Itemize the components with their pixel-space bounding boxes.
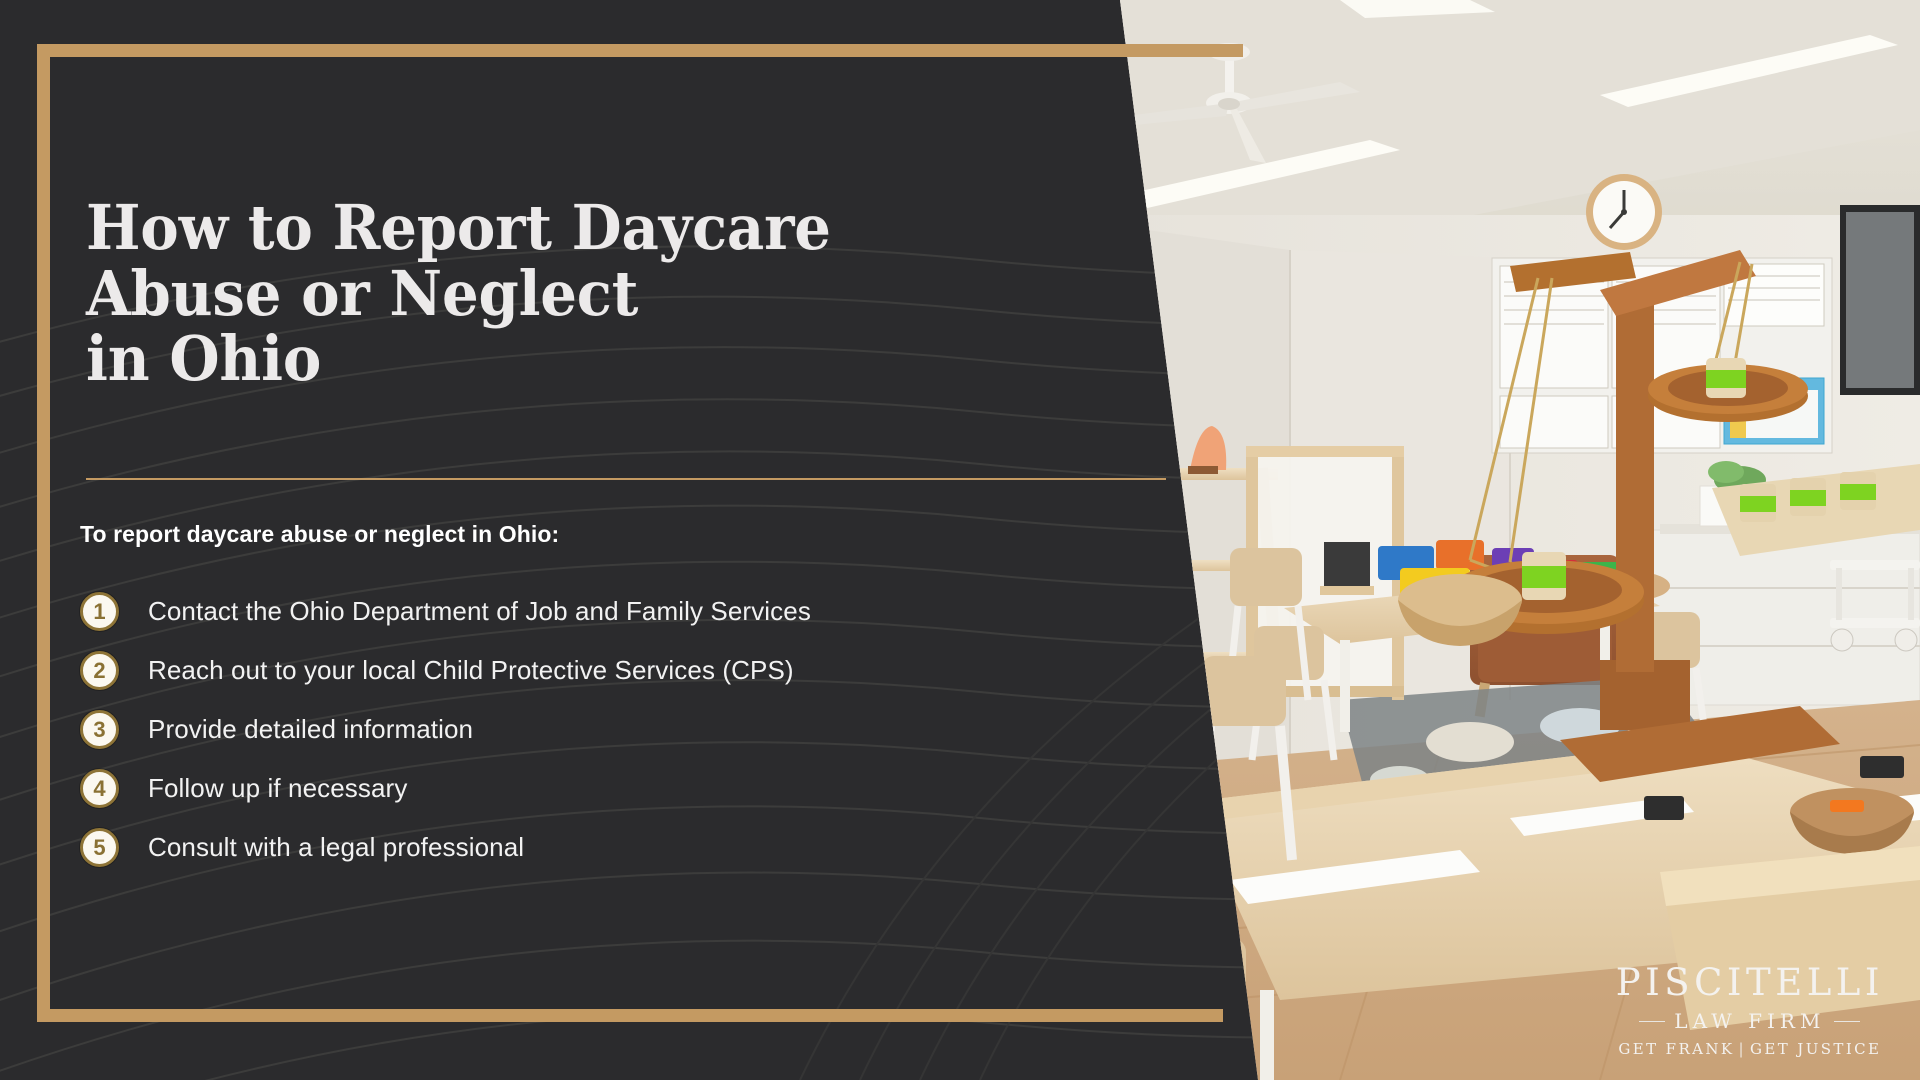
gold-divider-rule [86,478,1166,480]
poster-canvas: How to Report Daycare Abuse or Neglect i… [0,0,1920,1080]
logo-tagline: GET FRANK|GET JUSTICE [1616,1040,1884,1058]
step-number-badge: 5 [80,828,119,867]
lead-text: To report daycare abuse or neglect in Oh… [80,521,559,548]
logo-firm-name: PISCITELLI [1616,963,1884,1004]
frame-border-top [37,44,1243,57]
frame-border-left [37,44,50,1022]
list-item: 2 Reach out to your local Child Protecti… [80,641,980,700]
logo-tagline-left: GET FRANK [1618,1040,1734,1058]
logo-dash-left [1639,1021,1665,1022]
list-item: 1 Contact the Ohio Department of Job and… [80,582,980,641]
step-number-badge: 1 [80,592,119,631]
list-item: 3 Provide detailed information [80,700,980,759]
frame-border-bottom [37,1009,1223,1022]
logo-tagline-right: GET JUSTICE [1750,1040,1881,1058]
law-firm-logo: PISCITELLI LAW FIRM GET FRANK|GET JUSTIC… [1616,963,1884,1058]
logo-dash-right [1834,1021,1860,1022]
logo-tagline-divider: | [1739,1040,1746,1058]
headline-block: How to Report Daycare Abuse or Neglect i… [86,195,966,392]
step-label: Follow up if necessary [148,773,407,804]
logo-subtitle-row: LAW FIRM [1616,1009,1884,1033]
list-item: 5 Consult with a legal professional [80,818,980,877]
steps-list: 1 Contact the Ohio Department of Job and… [80,582,980,877]
step-number-badge: 2 [80,651,119,690]
wall-clock-icon [1586,174,1662,250]
step-label: Consult with a legal professional [148,832,524,863]
page-title: How to Report Daycare Abuse or Neglect i… [86,195,904,392]
step-number-badge: 4 [80,769,119,808]
step-label: Contact the Ohio Department of Job and F… [148,596,811,627]
step-label: Reach out to your local Child Protective… [148,655,794,686]
step-number-badge: 3 [80,710,119,749]
step-label: Provide detailed information [148,714,473,745]
logo-subtitle: LAW FIRM [1674,1009,1825,1033]
list-item: 4 Follow up if necessary [80,759,980,818]
